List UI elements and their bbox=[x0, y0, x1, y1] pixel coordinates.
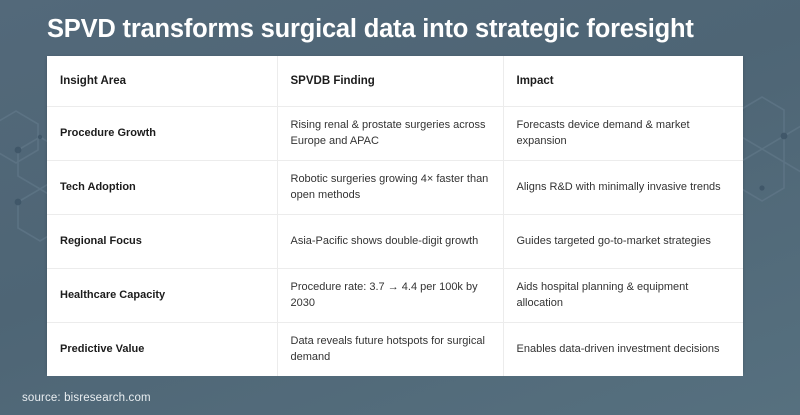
table-row: Regional Focus Asia-Pacific shows double… bbox=[47, 215, 743, 269]
cell-insight-area: Tech Adoption bbox=[47, 161, 277, 215]
cell-insight-area: Procedure Growth bbox=[47, 107, 277, 161]
cell-insight-area: Predictive Value bbox=[47, 323, 277, 377]
source-attribution: source: bisresearch.com bbox=[22, 392, 151, 404]
table-row: Tech Adoption Robotic surgeries growing … bbox=[47, 161, 743, 215]
table-row: Predictive Value Data reveals future hot… bbox=[47, 323, 743, 377]
table-row: Healthcare Capacity Procedure rate: 3.7 … bbox=[47, 269, 743, 323]
cell-insight-area: Regional Focus bbox=[47, 215, 277, 269]
insights-table-card: Insight Area SPVDB Finding Impact Proced… bbox=[47, 56, 743, 372]
cell-impact: Aids hospital planning & equipment alloc… bbox=[503, 269, 743, 323]
column-header-impact: Impact bbox=[503, 56, 743, 107]
cell-finding: Procedure rate: 3.7 → 4.4 per 100k by 20… bbox=[277, 269, 503, 323]
cell-impact: Forecasts device demand & market expansi… bbox=[503, 107, 743, 161]
column-header-insight-area: Insight Area bbox=[47, 56, 277, 107]
insights-table: Insight Area SPVDB Finding Impact Proced… bbox=[47, 56, 743, 376]
cell-finding: Asia-Pacific shows double-digit growth bbox=[277, 215, 503, 269]
slide-canvas: SPVD transforms surgical data into strat… bbox=[0, 0, 800, 415]
cell-finding: Rising renal & prostate surgeries across… bbox=[277, 107, 503, 161]
page-title: SPVD transforms surgical data into strat… bbox=[47, 9, 757, 49]
cell-impact: Guides targeted go-to-market strategies bbox=[503, 215, 743, 269]
column-header-spvdb-finding: SPVDB Finding bbox=[277, 56, 503, 107]
cell-insight-area: Healthcare Capacity bbox=[47, 269, 277, 323]
table-row: Procedure Growth Rising renal & prostate… bbox=[47, 107, 743, 161]
table-header-row: Insight Area SPVDB Finding Impact bbox=[47, 56, 743, 107]
cell-impact: Enables data-driven investment decisions bbox=[503, 323, 743, 377]
cell-finding: Data reveals future hotspots for surgica… bbox=[277, 323, 503, 377]
cell-impact: Aligns R&D with minimally invasive trend… bbox=[503, 161, 743, 215]
cell-finding: Robotic surgeries growing 4× faster than… bbox=[277, 161, 503, 215]
